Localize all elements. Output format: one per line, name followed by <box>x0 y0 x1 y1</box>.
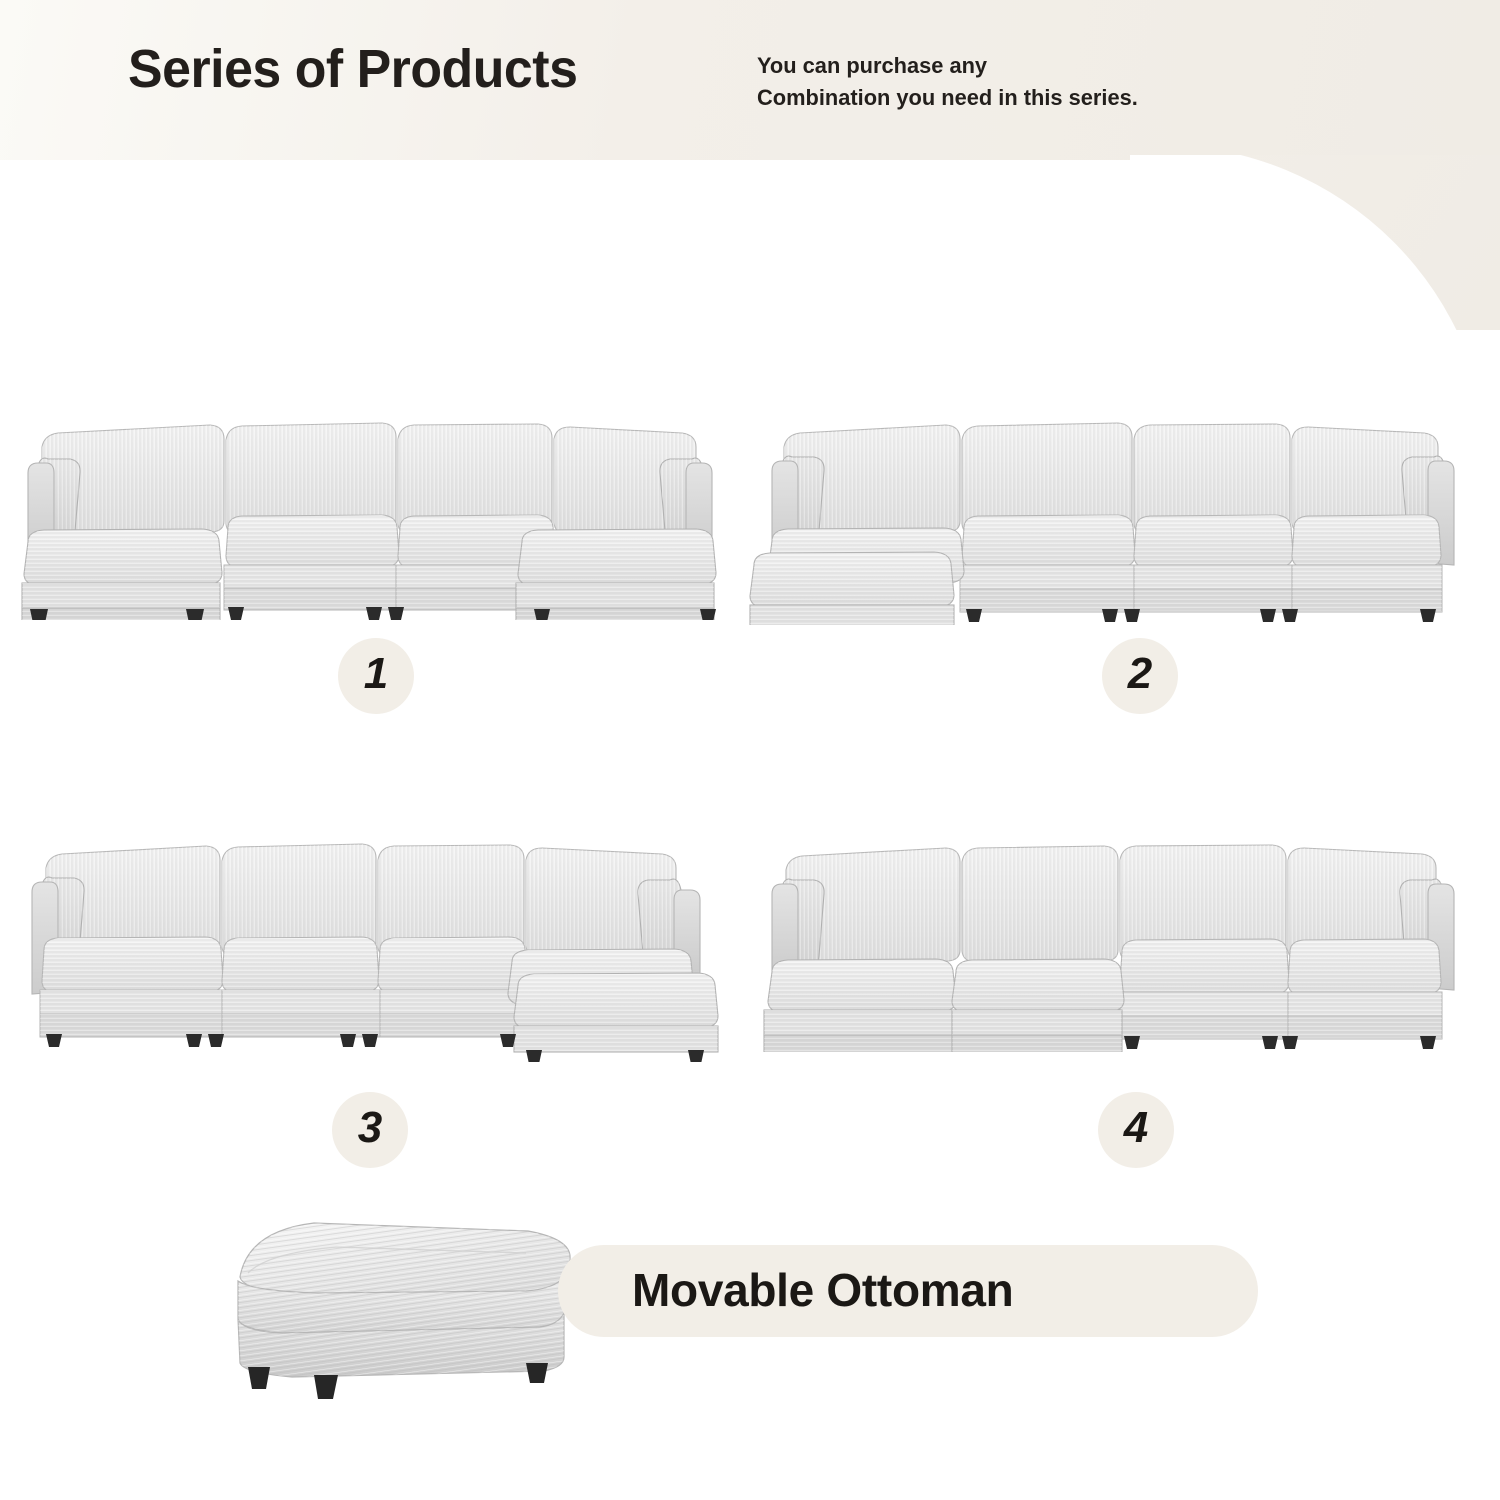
movable-ottoman-label: Movable Ottoman <box>632 1263 1013 1317</box>
config-2-badge: 2 <box>1102 638 1178 714</box>
movable-ottoman-banner: Movable Ottoman <box>558 1245 1258 1337</box>
infographic-canvas: Series of Products You can purchase any … <box>0 0 1500 1500</box>
config-4-image <box>748 822 1478 1052</box>
config-1-image <box>10 395 730 620</box>
config-3-image <box>10 822 740 1062</box>
page-title: Series of Products <box>128 38 577 100</box>
header-corner-curve <box>1130 155 1500 330</box>
movable-ottoman-image <box>196 1185 596 1435</box>
config-3-badge: 3 <box>332 1092 408 1168</box>
config-4-badge: 4 <box>1098 1092 1174 1168</box>
config-2-image <box>748 395 1478 625</box>
subtitle-line-2: Combination you need in this series. <box>757 85 1138 110</box>
config-1-badge: 1 <box>338 638 414 714</box>
subtitle-line-1: You can purchase any <box>757 53 987 78</box>
page-subtitle: You can purchase any Combination you nee… <box>757 50 1138 114</box>
